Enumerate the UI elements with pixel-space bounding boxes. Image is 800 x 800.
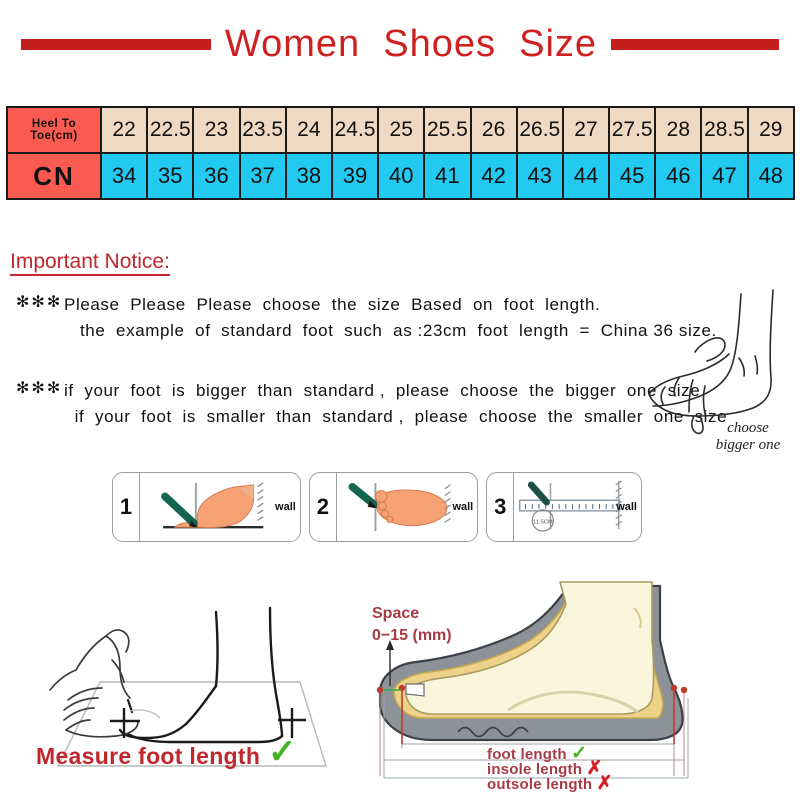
table-row-heel-to-toe: Heel To Toe(cm) 22 22.5 23 23.5 24 24.5 … xyxy=(7,107,794,153)
svg-text:11.5CM: 11.5CM xyxy=(533,519,553,525)
asterisk-icon: ✻✻✻ xyxy=(16,292,62,312)
notice-line: the example of standard foot such as :23… xyxy=(64,318,717,344)
row-label-cn: CN xyxy=(7,153,101,199)
cell-cm: 27.5 xyxy=(609,107,655,153)
cell-cn: 36 xyxy=(193,153,239,199)
size-conversion-table: Heel To Toe(cm) 22 22.5 23 23.5 24 24.5 … xyxy=(6,106,795,200)
cell-cn: 45 xyxy=(609,153,655,199)
step-2-illustration: wall xyxy=(337,473,477,541)
cell-cn: 34 xyxy=(101,153,147,199)
wall-label: wall xyxy=(616,501,637,513)
row-label-heel-to-toe: Heel To Toe(cm) xyxy=(7,107,101,153)
cell-cm: 27 xyxy=(563,107,609,153)
cell-cm: 22 xyxy=(101,107,147,153)
cross-icon: ✗ xyxy=(597,773,613,794)
cell-cn: 37 xyxy=(240,153,286,199)
step-number: 1 xyxy=(113,473,140,541)
cell-cn: 38 xyxy=(286,153,332,199)
cell-cn: 48 xyxy=(748,153,794,199)
cell-cn: 35 xyxy=(147,153,193,199)
outsole-length-text: outsole length xyxy=(487,776,592,793)
step-box-2: 2 wall xyxy=(309,472,478,542)
check-icon: ✓ xyxy=(268,735,297,769)
step-number: 2 xyxy=(310,473,337,541)
measuring-steps: 1 wall 2 xyxy=(112,472,642,542)
cell-cm: 29 xyxy=(748,107,794,153)
page-title: Women Shoes Size xyxy=(211,25,611,63)
cell-cn: 40 xyxy=(378,153,424,199)
notice-block-2: ✻✻✻ if your foot is bigger than standard… xyxy=(16,378,727,431)
notice-line: if your foot is bigger than standard , p… xyxy=(64,378,727,404)
cell-cm: 25 xyxy=(378,107,424,153)
step-3-illustration: 11.5CM wall xyxy=(514,473,641,541)
wall-label: wall xyxy=(275,501,296,513)
cell-cm: 22.5 xyxy=(147,107,193,153)
cell-cm: 24.5 xyxy=(332,107,378,153)
step-1-illustration: wall xyxy=(140,473,300,541)
title-rule-right xyxy=(611,39,779,50)
cell-cm: 23 xyxy=(193,107,239,153)
cell-cn: 43 xyxy=(517,153,563,199)
asterisk-icon: ✻✻✻ xyxy=(16,378,62,398)
cell-cn: 39 xyxy=(332,153,378,199)
cell-cn: 46 xyxy=(655,153,701,199)
step-number: 3 xyxy=(487,473,514,541)
cell-cm: 25.5 xyxy=(424,107,470,153)
cell-cm: 24 xyxy=(286,107,332,153)
cell-cn: 41 xyxy=(424,153,470,199)
wall-label: wall xyxy=(452,501,473,513)
outsole-length-label: outsole length ✗ xyxy=(487,772,613,795)
title-rule-left xyxy=(21,39,211,50)
space-label: Space 0−15 (mm) xyxy=(372,603,452,646)
cell-cm: 26 xyxy=(471,107,517,153)
page-title-bar: Women Shoes Size xyxy=(0,18,800,70)
cell-cm: 26.5 xyxy=(517,107,563,153)
cell-cm: 28.5 xyxy=(701,107,747,153)
important-notice-heading: Important Notice: xyxy=(10,250,170,276)
step-box-3: 3 11.5CM xyxy=(486,472,642,542)
measure-foot-length-caption: Measure foot length xyxy=(36,743,260,770)
cell-cn: 47 xyxy=(701,153,747,199)
cell-cm: 23.5 xyxy=(240,107,286,153)
cell-cn: 42 xyxy=(471,153,517,199)
notice-line: Please Please Please choose the size Bas… xyxy=(64,292,717,318)
table-row-cn: CN 34 35 36 37 38 39 40 41 42 43 44 45 4… xyxy=(7,153,794,199)
step-box-1: 1 wall xyxy=(112,472,301,542)
cell-cm: 28 xyxy=(655,107,701,153)
notice-line: if your foot is smaller than standard , … xyxy=(64,404,727,430)
notice-block-1: ✻✻✻ Please Please Please choose the size… xyxy=(16,292,717,345)
choose-bigger-one-caption: choosebigger one xyxy=(698,420,798,455)
cell-cn: 44 xyxy=(563,153,609,199)
